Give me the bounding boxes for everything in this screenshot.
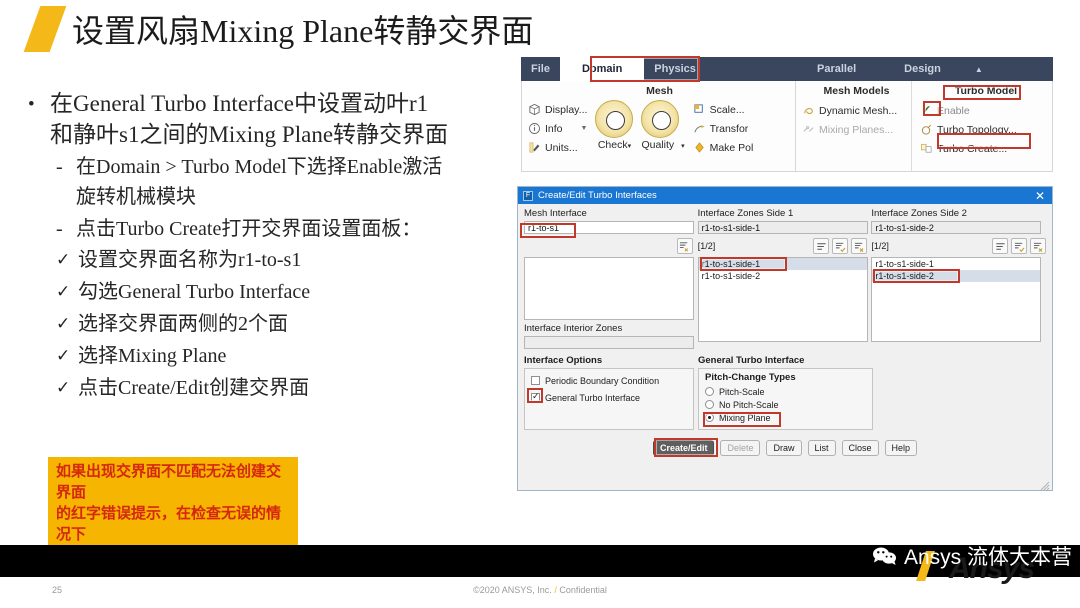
radio-mixing-plane[interactable]: Mixing Plane [705, 411, 866, 424]
bullet-check-3: ✓ 选择交界面两侧的2个面 [56, 308, 528, 340]
list-icon[interactable] [813, 238, 829, 254]
ribbon-tab-physics[interactable]: Physics [644, 63, 706, 75]
side1-listbox[interactable]: r1-to-s1-side-1 r1-to-s1-side-2 [698, 257, 868, 342]
ribbon-col-scale: Scale... Transfor Make Pol [693, 100, 754, 157]
fluent-icon: F [523, 191, 533, 201]
side2-listbox[interactable]: r1-to-s1-side-1 r1-to-s1-side-2 [871, 257, 1041, 342]
ribbon-item-mixing-planes[interactable]: Mixing Planes... [802, 120, 911, 139]
ribbon-item-info[interactable]: Info ▼ [528, 119, 587, 138]
quality-star-icon [641, 100, 679, 138]
ribbon-item-check-label: Check [598, 139, 628, 151]
bullet-check-1-text: 设置交界面名称为r1-to-s1 [78, 244, 301, 276]
dialog-button-row: Create/Edit Delete Draw List Close Help [524, 440, 1046, 456]
dialog-title-bar: F Create/Edit Turbo Interfaces ✕ [518, 187, 1052, 204]
radio-icon[interactable] [705, 387, 714, 396]
select-all-icon[interactable] [832, 238, 848, 254]
dash-marker: - [56, 214, 76, 244]
bullet-level2-a-text: 在Domain > Turbo Model下选择Enable激活 旋转机械模块 [76, 152, 442, 212]
general-turbo-interface-title: General Turbo Interface [698, 355, 1046, 366]
ribbon-item-check[interactable]: Check▾ [595, 100, 633, 157]
help-button[interactable]: Help [885, 440, 918, 456]
radio-pitch-scale[interactable]: Pitch-Scale [705, 385, 866, 398]
radio-mixing-plane-label: Mixing Plane [719, 413, 771, 423]
general-turbo-interface-col: General Turbo Interface Pitch-Change Typ… [698, 355, 1046, 430]
deselect-all-icon[interactable] [1030, 238, 1046, 254]
resize-grip-icon[interactable] [1040, 478, 1050, 488]
list-button[interactable]: List [808, 440, 836, 456]
bullet-check-1: ✓ 设置交界面名称为r1-to-s1 [56, 244, 528, 276]
bullet-level1-line2: 和静叶s1之间的Mixing Plane转静交界面 [50, 122, 448, 147]
side1-count: [1/2] [698, 241, 716, 251]
warning-callout-line2: 的红字错误提示，在检查无误的情况下 [56, 504, 290, 546]
ribbon-item-turbo-topology-label: Turbo Topology... [937, 124, 1017, 136]
ribbon-panel-mesh: Mesh Display... Info ▼ [521, 81, 798, 172]
checked-checkbox-icon[interactable] [531, 393, 540, 402]
mesh-interface-list-col: Interface Interior Zones [524, 257, 698, 349]
ribbon-col-display: Display... Info ▼ Units... [528, 100, 587, 157]
side2-count: [1/2] [871, 241, 889, 251]
check-marker-icon: ✓ [56, 340, 78, 372]
transform-icon [693, 122, 706, 135]
ribbon-item-units-label: Units... [545, 142, 578, 154]
checkbox-icon[interactable] [531, 376, 540, 385]
radio-no-pitch-scale[interactable]: No Pitch-Scale [705, 398, 866, 411]
wechat-watermark: Ansys 流体大本营 [872, 541, 1072, 571]
mesh-interface-section: Mesh Interface r1-to-s1 [524, 208, 698, 234]
ribbon-item-units[interactable]: Units... [528, 138, 587, 157]
wechat-icon [872, 546, 898, 566]
bullet-check-4: ✓ 选择Mixing Plane [56, 340, 528, 372]
checked-checkbox-icon[interactable]: ✔ [920, 104, 933, 117]
draw-button[interactable]: Draw [766, 440, 801, 456]
select-all-icon[interactable] [1011, 238, 1027, 254]
ribbon-item-scale[interactable]: Scale... [693, 100, 754, 119]
ribbon-item-mixing-planes-label: Mixing Planes... [819, 124, 893, 136]
ribbon-item-enable-label: Enable [937, 105, 970, 117]
dynamic-mesh-icon [802, 104, 815, 117]
list-item[interactable]: r1-to-s1-side-2 [699, 270, 867, 282]
ribbon-item-dynamic-mesh[interactable]: Dynamic Mesh... [802, 101, 911, 120]
ribbon-tab-file[interactable]: File [521, 63, 560, 75]
bullet-check-4-text: 选择Mixing Plane [78, 340, 226, 372]
scale-icon [693, 103, 706, 116]
bullet-marker: • [28, 88, 50, 150]
check-marker-icon: ✓ [56, 308, 78, 340]
ribbon-panels-right: Mesh Models Dynamic Mesh... Mixing Plane… [795, 81, 1053, 172]
close-button[interactable]: Close [842, 440, 879, 456]
warning-callout-line1: 如果出现交界面不匹配无法创建交界面 [56, 462, 290, 504]
close-icon[interactable]: ✕ [1033, 190, 1047, 202]
bullet-level2-b-text: 点击Turbo Create打开交界面设置面板： [76, 214, 421, 244]
ribbon-tab-domain[interactable]: Domain [560, 57, 644, 81]
ribbon-item-quality[interactable]: Quality ▾ [641, 100, 684, 157]
ribbon-item-transform[interactable]: Transfor [693, 119, 754, 138]
check-marker-icon: ✓ [56, 244, 78, 276]
ribbon-item-quality-label: Quality [641, 139, 674, 151]
side2-label: Interface Zones Side 2 [871, 208, 1046, 219]
radio-icon[interactable] [705, 400, 714, 409]
chevron-up-icon[interactable]: ▲ [975, 65, 983, 74]
list-item[interactable]: r1-to-s1-side-1 [699, 258, 867, 270]
pitch-change-types-title: Pitch-Change Types [705, 372, 866, 383]
side1-toolbar: [1/2] [698, 238, 872, 254]
interface-options-group: Periodic Boundary Condition General Turb… [524, 368, 694, 430]
option-periodic-boundary-condition[interactable]: Periodic Boundary Condition [531, 374, 687, 387]
ribbon-item-make-polyhedra-label: Make Pol [710, 142, 754, 154]
ribbon-item-turbo-topology[interactable]: Turbo Topology... [920, 120, 1052, 139]
ribbon-item-scale-label: Scale... [710, 104, 745, 116]
side1-section: Interface Zones Side 1 r1-to-s1-side-1 [698, 208, 872, 234]
bullet-check-5: ✓ 点击Create/Edit创建交界面 [56, 372, 528, 404]
list-item[interactable]: r1-to-s1-side-2 [872, 270, 1040, 282]
ribbon-group-title-turbo-model: Turbo Model [920, 81, 1052, 97]
dialog-title: Create/Edit Turbo Interfaces [538, 190, 1033, 201]
side1-label: Interface Zones Side 1 [698, 208, 872, 219]
ribbon-item-turbo-create[interactable]: Turbo Create... [920, 139, 1052, 158]
ribbon-item-dynamic-mesh-label: Dynamic Mesh... [819, 105, 897, 117]
side2-filter-input[interactable]: r1-to-s1-side-2 [871, 221, 1041, 234]
option-general-turbo-interface[interactable]: General Turbo Interface [531, 391, 687, 404]
mesh-interface-listbox[interactable] [524, 257, 694, 320]
bullet-level1: • 在General Turbo Interface中设置动叶r1 和静叶s1之… [28, 88, 528, 150]
bullet-level1-line1: 在General Turbo Interface中设置动叶r1 [50, 91, 428, 116]
chevron-down-icon[interactable]: ▾ [681, 143, 685, 150]
pitch-change-types-group: Pitch-Change Types Pitch-Scale No Pitch-… [698, 368, 873, 430]
watermark-text: Ansys 流体大本营 [904, 541, 1072, 571]
deselect-all-icon[interactable] [851, 238, 867, 254]
fluent-ribbon-right: Parallel Design ▲ Mesh Models Dynamic Me… [795, 57, 1053, 172]
copyright-text: ©2020 ANSYS, Inc. / Confidential [473, 585, 607, 595]
ribbon-item-transform-label: Transfor [710, 123, 749, 135]
mixing-planes-icon [802, 123, 815, 136]
ribbon-item-display[interactable]: Display... [528, 100, 587, 119]
radio-no-pitch-scale-label: No Pitch-Scale [719, 400, 779, 410]
create-edit-turbo-interfaces-dialog: F Create/Edit Turbo Interfaces ✕ Mesh In… [517, 186, 1053, 491]
side1-list-col: r1-to-s1-side-1 r1-to-s1-side-2 [698, 257, 872, 349]
interface-interior-zones-label: Interface Interior Zones [524, 323, 698, 334]
check-badge-icon [595, 100, 633, 138]
ribbon-tab-strip-left: File Domain Physics [521, 57, 798, 81]
copyright-pre: ©2020 ANSYS, Inc. [473, 585, 552, 595]
ribbon-group-mesh-models: Mesh Models Dynamic Mesh... Mixing Plane… [796, 81, 912, 171]
bullet-level2-b: - 点击Turbo Create打开交界面设置面板： [56, 214, 528, 244]
radio-pitch-scale-label: Pitch-Scale [719, 387, 765, 397]
check-marker-icon: ✓ [56, 372, 78, 404]
fluent-ribbon-left: File Domain Physics Mesh Display... Info [521, 57, 798, 172]
mesh-interface-input[interactable]: r1-to-s1 [524, 221, 694, 234]
dash-marker: - [56, 152, 76, 212]
side1-filter-input[interactable]: r1-to-s1-side-1 [698, 221, 868, 234]
copyright-post: Confidential [559, 585, 607, 595]
delete-button[interactable]: Delete [720, 440, 760, 456]
polyhedra-icon [693, 141, 706, 154]
bullet-level2-a: - 在Domain > Turbo Model下选择Enable激活 旋转机械模… [56, 152, 528, 212]
ribbon-tab-design[interactable]: Design [894, 63, 951, 75]
page-title: 设置风扇Mixing Plane转静交界面 [72, 6, 533, 52]
option-periodic-boundary-condition-label: Periodic Boundary Condition [545, 376, 659, 386]
page-number: 25 [52, 585, 62, 595]
bullet-level2-a-line2: 旋转机械模块 [76, 186, 196, 208]
mesh-interface-label: Mesh Interface [524, 208, 698, 219]
info-icon [528, 122, 541, 135]
interface-options-col: Interface Options Periodic Boundary Cond… [524, 355, 698, 430]
bullet-check-2-text: 勾选General Turbo Interface [78, 276, 310, 308]
bullet-level1-text: 在General Turbo Interface中设置动叶r1 和静叶s1之间的… [50, 88, 528, 150]
ribbon-item-info-label: Info [545, 123, 563, 135]
ribbon-item-make-polyhedra[interactable]: Make Pol [693, 138, 754, 157]
side2-section: Interface Zones Side 2 r1-to-s1-side-2 [871, 208, 1046, 234]
ribbon-group-turbo-model: Turbo Model ✔ Enable Turbo Topology... [912, 81, 1052, 171]
slide-body-bullets: • 在General Turbo Interface中设置动叶r1 和静叶s1之… [28, 88, 528, 404]
ribbon-group-title-mesh: Mesh [522, 81, 797, 97]
turbo-topology-icon [920, 123, 933, 136]
dialog-body: Mesh Interface r1-to-s1 Interface Zones … [518, 204, 1052, 460]
chevron-down-icon[interactable]: ▾ [628, 143, 632, 150]
slide-title-bar: 设置风扇Mixing Plane转静交界面 [32, 6, 533, 52]
units-icon [528, 141, 541, 154]
check-marker-icon: ✓ [56, 276, 78, 308]
ribbon-tab-strip-right: Parallel Design ▲ [795, 57, 1053, 81]
bullet-check-3-text: 选择交界面两侧的2个面 [78, 308, 288, 340]
deselect-all-icon[interactable] [677, 238, 693, 254]
turbo-create-icon [920, 142, 933, 155]
bullet-level2-a-line1: 在Domain > Turbo Model下选择Enable激活 [76, 156, 442, 178]
ribbon-item-enable[interactable]: ✔ Enable [920, 101, 1052, 120]
create-edit-button[interactable]: Create/Edit [653, 440, 715, 456]
bullet-check-2: ✓ 勾选General Turbo Interface [56, 276, 528, 308]
chevron-down-icon[interactable]: ▼ [581, 125, 588, 132]
radio-selected-icon[interactable] [705, 413, 714, 422]
option-general-turbo-interface-label: General Turbo Interface [545, 393, 640, 403]
list-item[interactable]: r1-to-s1-side-1 [872, 258, 1040, 270]
cube-icon [528, 103, 541, 116]
ribbon-tab-parallel[interactable]: Parallel [807, 63, 866, 75]
mesh-interface-toolbar [524, 238, 698, 254]
ribbon-item-display-label: Display... [545, 104, 587, 116]
interface-options-title: Interface Options [524, 355, 698, 366]
ribbon-group-title-mesh-models: Mesh Models [802, 81, 911, 97]
bullet-check-5-text: 点击Create/Edit创建交界面 [78, 372, 309, 404]
interface-interior-zones-input[interactable] [524, 336, 694, 349]
side2-list-col: r1-to-s1-side-1 r1-to-s1-side-2 [871, 257, 1046, 349]
ribbon-item-turbo-create-label: Turbo Create... [937, 143, 1007, 155]
side2-toolbar: [1/2] [871, 238, 1046, 254]
title-accent-slash-icon [24, 6, 67, 52]
list-icon[interactable] [992, 238, 1008, 254]
